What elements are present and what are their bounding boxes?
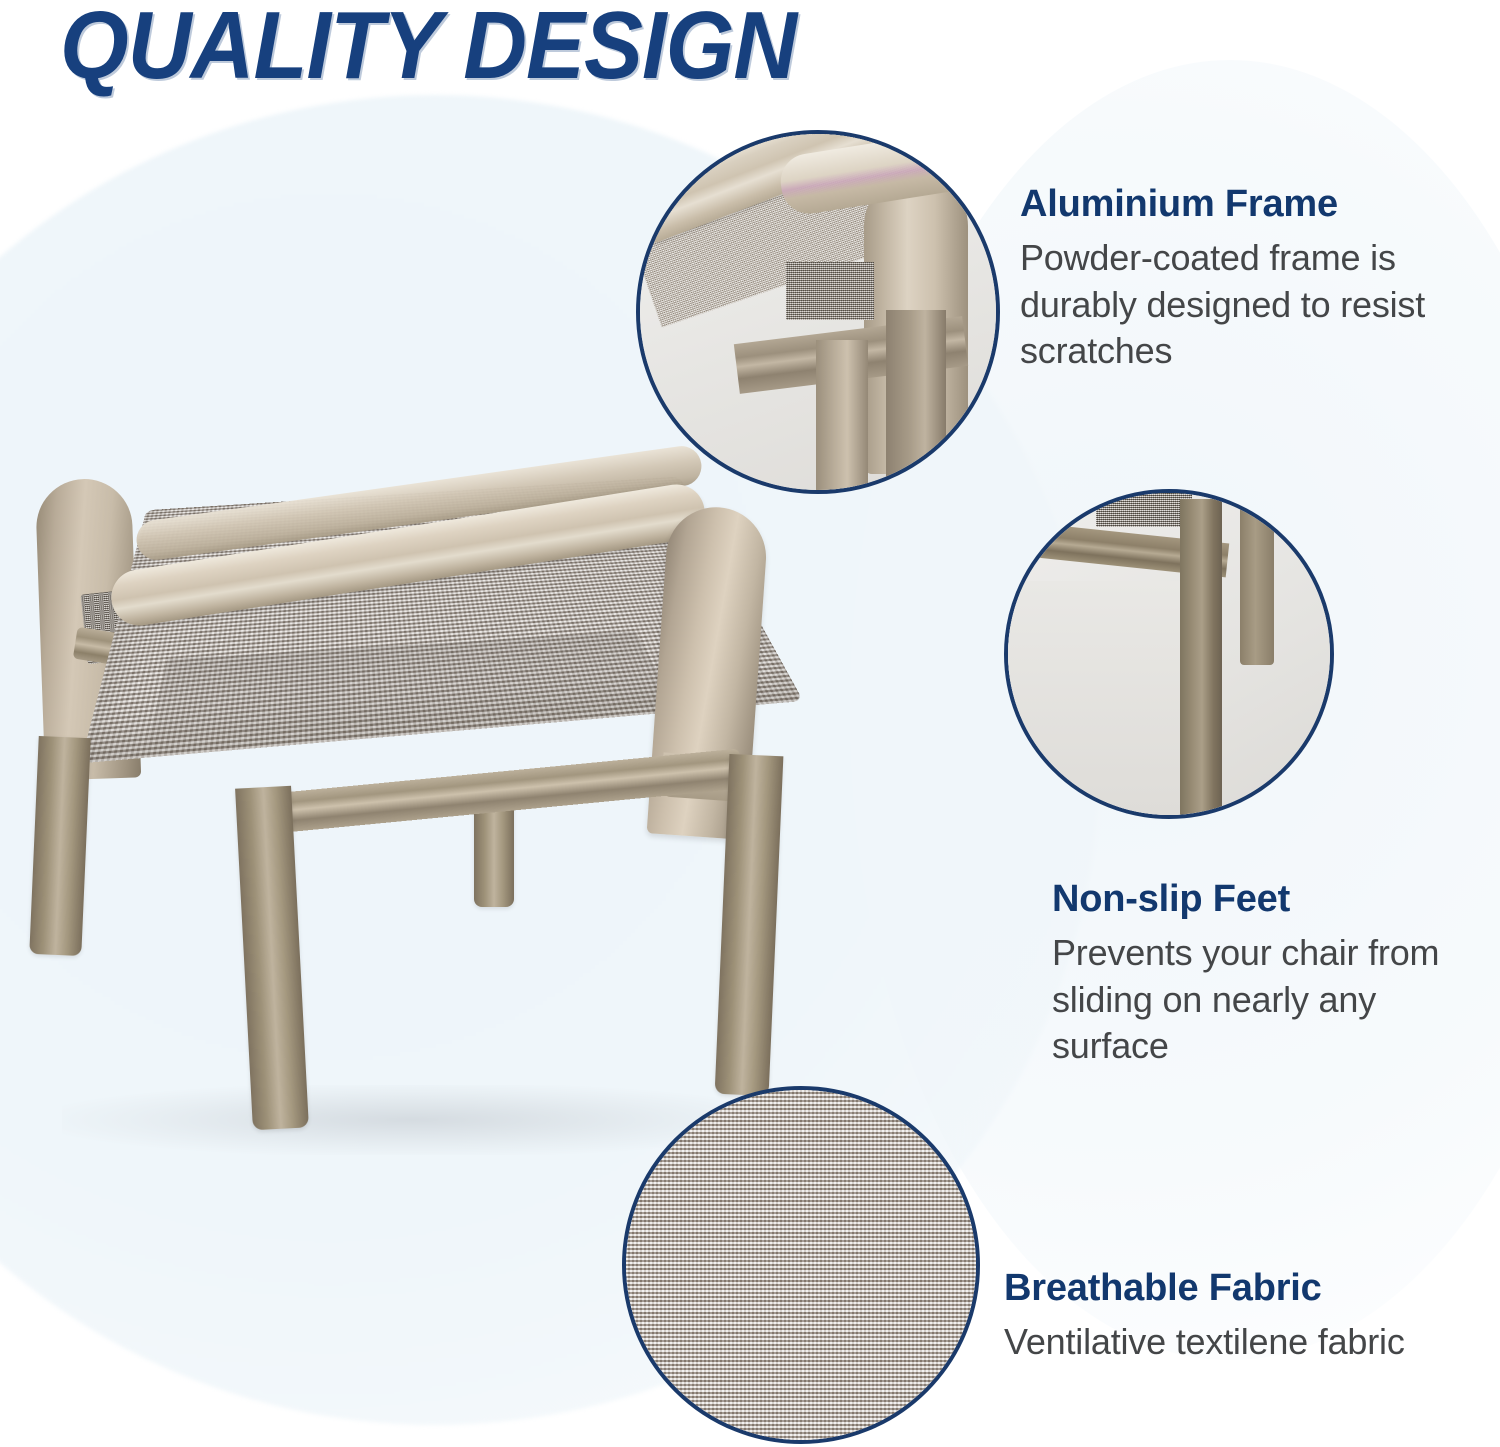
feature-body-aluminium-frame: Powder-coated frame is durably designed …	[1020, 235, 1490, 375]
ottoman-front-right-leg	[235, 786, 309, 1130]
infographic-canvas: QUALITY DESIGN Aluminium	[0, 0, 1500, 1447]
feet-closeup-mesh-edge	[1096, 493, 1192, 527]
feature-body-non-slip-feet: Prevents your chair from sliding on near…	[1052, 930, 1500, 1070]
feature-title-non-slip-feet: Non-slip Feet	[1052, 877, 1500, 922]
leg-joint-closeup-image	[1008, 493, 1330, 815]
feature-callout-aluminium-frame: Aluminium Frame Powder-coated frame is d…	[1020, 182, 1490, 375]
feature-circle-aluminium-frame	[636, 130, 1000, 494]
closeup-inner-mesh	[786, 262, 874, 320]
feature-circle-breathable-fabric	[622, 1086, 980, 1444]
feature-body-breathable-fabric: Ventilative textilene fabric	[1004, 1319, 1500, 1366]
feature-title-aluminium-frame: Aluminium Frame	[1020, 182, 1490, 227]
ottoman-front-left-leg	[29, 736, 90, 956]
feature-circle-non-slip-feet	[1004, 489, 1334, 819]
feet-closeup-front-leg	[1180, 499, 1222, 819]
feature-title-breathable-fabric: Breathable Fabric	[1004, 1266, 1500, 1311]
page-title: QUALITY DESIGN	[60, 0, 796, 97]
feature-callout-non-slip-feet: Non-slip Feet Prevents your chair from s…	[1052, 877, 1500, 1070]
feet-closeup-rear-leg	[1240, 495, 1274, 665]
closeup-right-leg	[886, 310, 946, 490]
feet-closeup-shadow	[1008, 581, 1198, 817]
frame-corner-closeup-image	[640, 134, 996, 490]
feature-callout-breathable-fabric: Breathable Fabric Ventilative textilene …	[1004, 1266, 1500, 1366]
textilene-weave-closeup-image	[626, 1090, 976, 1440]
closeup-vertical-post	[816, 340, 868, 490]
